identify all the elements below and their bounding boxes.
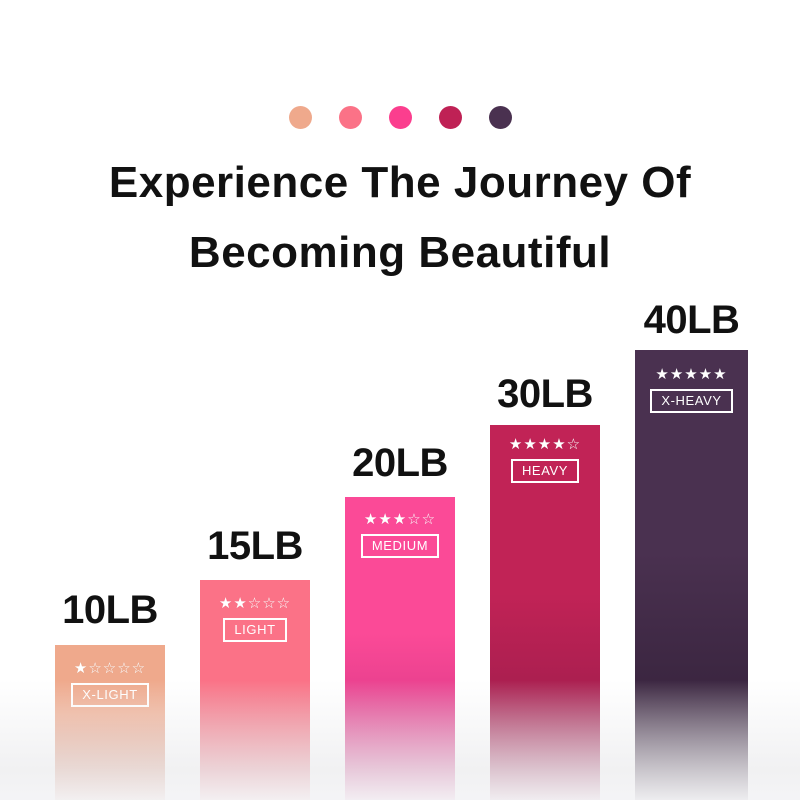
- bar-10lb-star-rating: ★☆☆☆☆: [74, 660, 146, 678]
- bar-20lb-level-label: MEDIUM: [361, 534, 439, 558]
- bar-30lb-level-label: HEAVY: [511, 459, 579, 483]
- infographic-canvas: Experience The Journey Of Becoming Beaut…: [0, 0, 800, 800]
- bar-30lb[interactable]: 30LB★★★★☆HEAVY: [490, 0, 600, 800]
- bar-20lb-weight-label: 20LB: [327, 441, 473, 485]
- bar-30lb-badge: ★★★★☆HEAVY: [490, 436, 600, 483]
- bar-40lb-level-label: X-HEAVY: [650, 389, 732, 413]
- bar-20lb[interactable]: 20LB★★★☆☆MEDIUM: [345, 0, 455, 800]
- bar-15lb-badge: ★★☆☆☆LIGHT: [200, 595, 310, 642]
- bar-20lb-badge: ★★★☆☆MEDIUM: [345, 511, 455, 558]
- bar-20lb-star-rating: ★★★☆☆: [364, 511, 436, 529]
- bar-30lb-weight-label: 30LB: [472, 372, 618, 416]
- bar-15lb[interactable]: 15LB★★☆☆☆LIGHT: [200, 0, 310, 800]
- bar-40lb-badge: ★★★★★X-HEAVY: [635, 366, 748, 413]
- bar-40lb-column: [635, 350, 748, 800]
- resistance-band-bar-chart: 10LB★☆☆☆☆X-LIGHT15LB★★☆☆☆LIGHT20LB★★★☆☆M…: [0, 0, 800, 800]
- bar-10lb-badge: ★☆☆☆☆X-LIGHT: [55, 660, 165, 707]
- bar-10lb[interactable]: 10LB★☆☆☆☆X-LIGHT: [55, 0, 165, 800]
- bar-10lb-weight-label: 10LB: [37, 588, 183, 632]
- bar-10lb-level-label: X-LIGHT: [71, 683, 148, 707]
- bar-15lb-level-label: LIGHT: [223, 618, 286, 642]
- bar-15lb-weight-label: 15LB: [182, 524, 328, 568]
- bar-30lb-star-rating: ★★★★☆: [509, 436, 581, 454]
- bar-40lb-weight-label: 40LB: [617, 298, 766, 342]
- bar-40lb-star-rating: ★★★★★: [655, 366, 727, 384]
- bar-15lb-star-rating: ★★☆☆☆: [219, 595, 291, 613]
- bar-40lb[interactable]: 40LB★★★★★X-HEAVY: [635, 0, 748, 800]
